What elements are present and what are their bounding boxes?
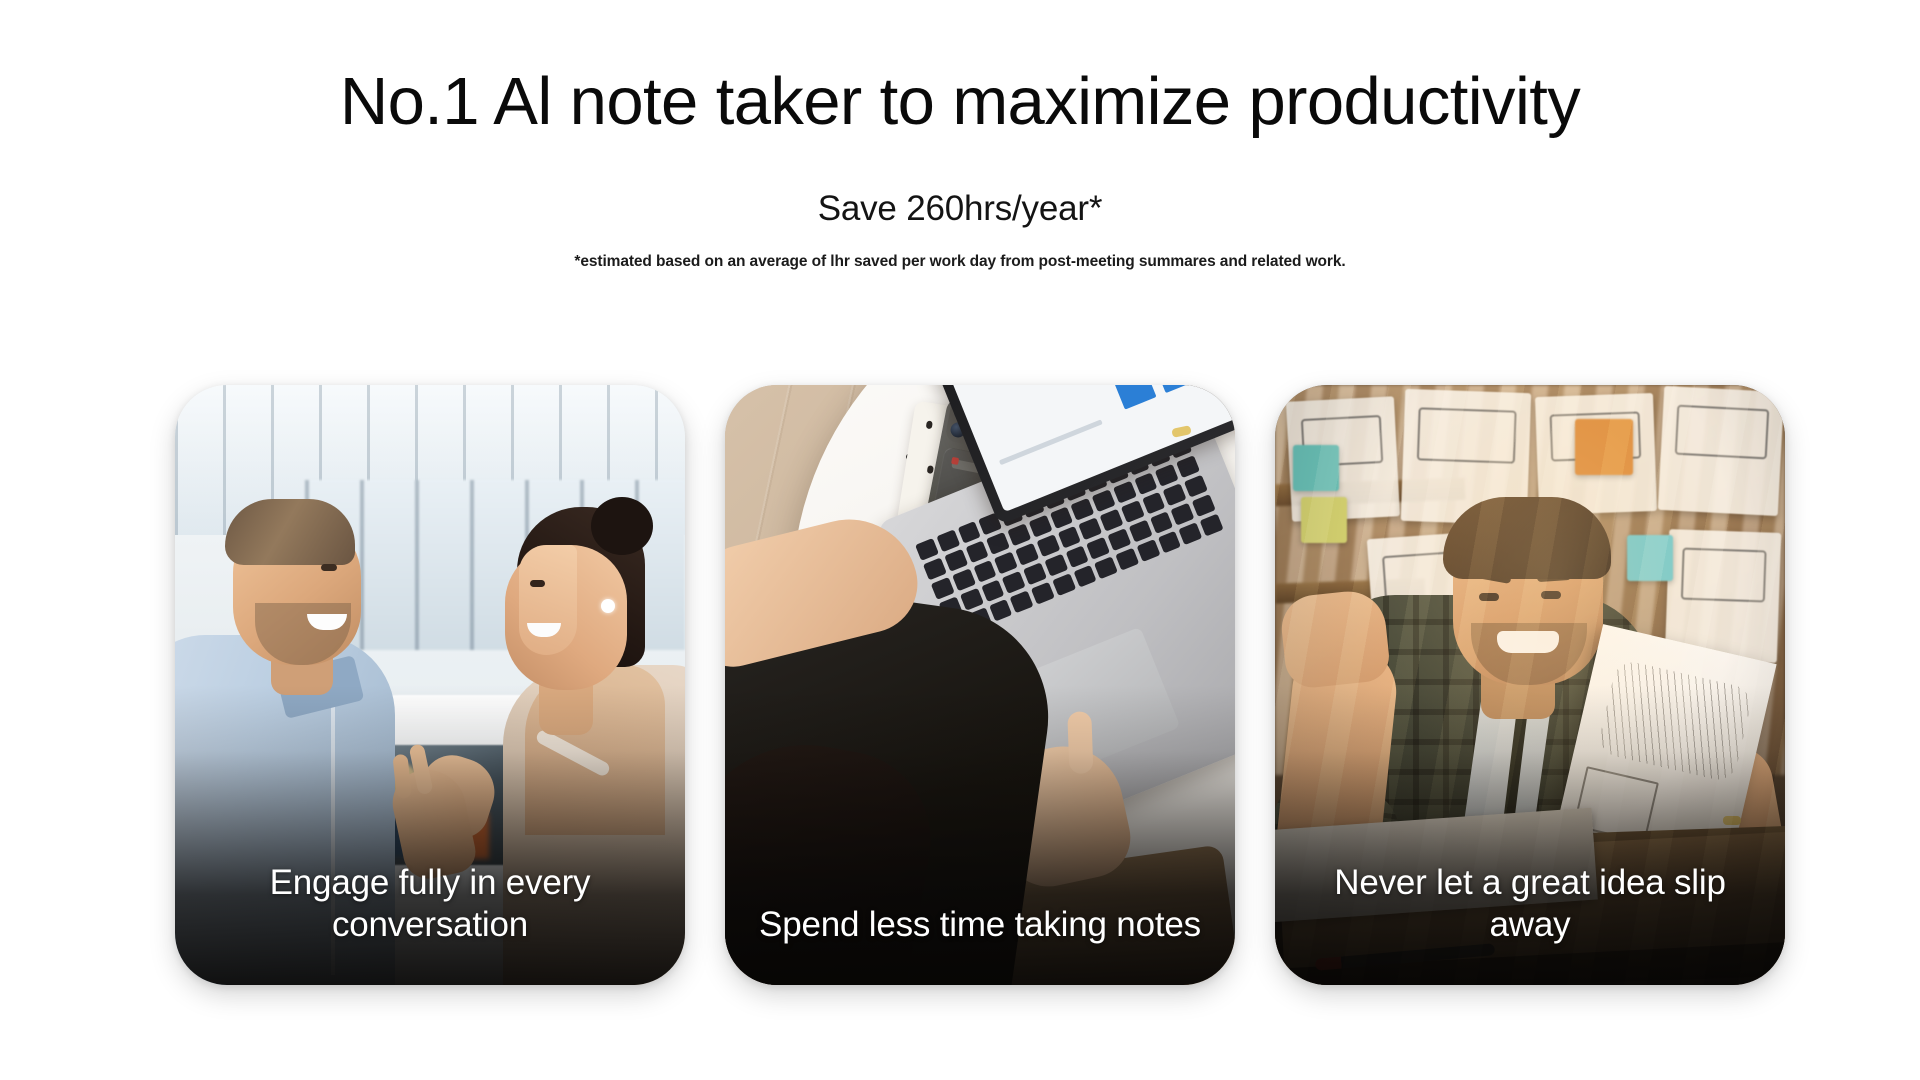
card-caption: Engage fully in every conversation (201, 862, 659, 945)
card-caption: Spend less time taking notes (751, 904, 1209, 945)
photo-desk-flatlay (725, 385, 1235, 985)
feature-card-notes[interactable]: Spend less time taking notes (725, 385, 1235, 985)
hero-header: No.1 Al note taker to maximize productiv… (0, 0, 1920, 271)
card-caption: Never let a great idea slip away (1301, 862, 1759, 945)
hero-footnote: *estimated based on an average of lhr sa… (0, 253, 1920, 271)
feature-card-idea[interactable]: Never let a great idea slip away (1275, 385, 1785, 985)
marketing-hero-page: No.1 Al note taker to maximize productiv… (0, 0, 1920, 1080)
feature-card-row: Engage fully in every conversation (175, 385, 1800, 985)
feature-card-engage[interactable]: Engage fully in every conversation (175, 385, 685, 985)
page-title: No.1 Al note taker to maximize productiv… (0, 66, 1920, 137)
hero-subtitle: Save 260hrs/year* (0, 189, 1920, 229)
